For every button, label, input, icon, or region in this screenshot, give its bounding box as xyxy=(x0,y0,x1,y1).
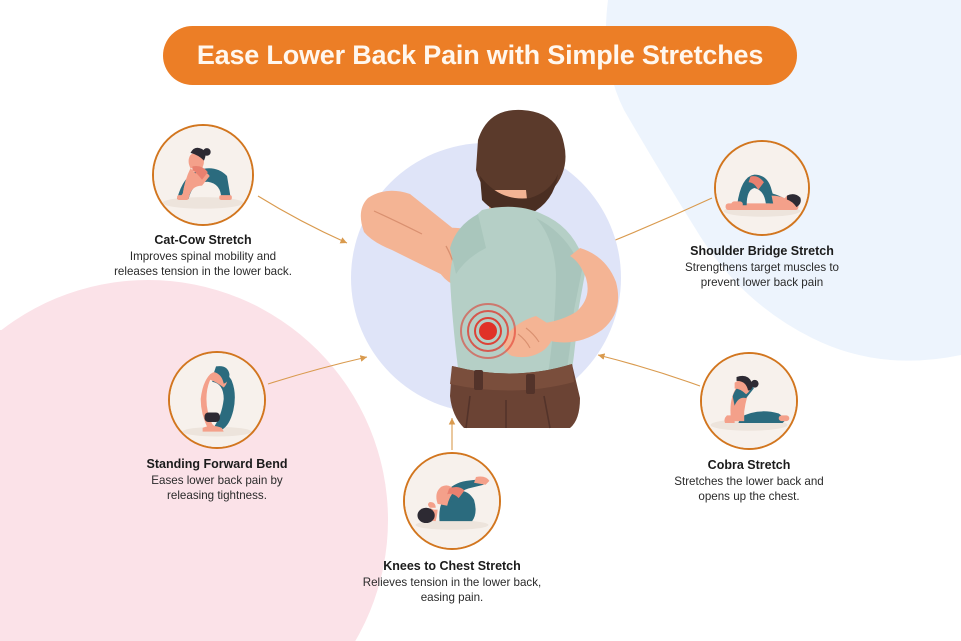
cat-cow-pose-illustration xyxy=(152,124,254,226)
cobra-pose-illustration xyxy=(700,352,798,450)
node-desc-catcow-line2: releases tension in the lower back. xyxy=(92,264,314,279)
node-desc-cobra-line2: opens up the chest. xyxy=(628,489,870,504)
page-title: Ease Lower Back Pain with Simple Stretch… xyxy=(197,40,763,71)
stretch-node-cobra[interactable]: Cobra Stretch Stretches the lower back a… xyxy=(700,352,798,450)
title-banner: Ease Lower Back Pain with Simple Stretch… xyxy=(163,26,797,85)
node-desc-catcow-line1: Improves spinal mobility and xyxy=(92,249,314,264)
node-title-forward: Standing Forward Bend xyxy=(96,456,338,473)
node-title-knees: Knees to Chest Stretch xyxy=(331,558,573,575)
node-title-cobra: Cobra Stretch xyxy=(628,457,870,474)
node-title-catcow: Cat-Cow Stretch xyxy=(92,232,314,249)
node-desc-forward-line1: Eases lower back pain by xyxy=(96,473,338,488)
stretch-nodes: Cat-Cow Stretch Improves spinal mobility… xyxy=(0,0,961,641)
stretch-node-catcow[interactable]: Cat-Cow Stretch Improves spinal mobility… xyxy=(152,124,254,226)
node-label-cobra: Cobra Stretch Stretches the lower back a… xyxy=(628,457,870,504)
stretch-node-forward[interactable]: Standing Forward Bend Eases lower back p… xyxy=(168,351,266,449)
shoulder-bridge-pose-illustration xyxy=(714,140,810,236)
node-desc-knees-line2: easing pain. xyxy=(331,590,573,605)
node-label-knees: Knees to Chest Stretch Relieves tension … xyxy=(331,558,573,605)
knees-to-chest-pose-illustration xyxy=(403,452,501,550)
node-desc-knees-line1: Relieves tension in the lower back, xyxy=(331,575,573,590)
infographic-canvas: Cat-Cow Stretch Improves spinal mobility… xyxy=(0,0,961,641)
node-title-bridge: Shoulder Bridge Stretch xyxy=(639,243,885,260)
node-desc-forward-line2: releasing tightness. xyxy=(96,488,338,503)
standing-forward-bend-pose-illustration xyxy=(168,351,266,449)
node-desc-bridge-line1: Strengthens target muscles to xyxy=(639,260,885,275)
node-desc-bridge-line2: prevent lower back pain xyxy=(639,275,885,290)
stretch-node-bridge[interactable]: Shoulder Bridge Stretch Strengthens targ… xyxy=(714,140,810,236)
node-label-catcow: Cat-Cow Stretch Improves spinal mobility… xyxy=(92,232,314,279)
stretch-node-knees[interactable]: Knees to Chest Stretch Relieves tension … xyxy=(403,452,501,550)
node-label-forward: Standing Forward Bend Eases lower back p… xyxy=(96,456,338,503)
node-label-bridge: Shoulder Bridge Stretch Strengthens targ… xyxy=(639,243,885,290)
node-desc-cobra-line1: Stretches the lower back and xyxy=(628,474,870,489)
